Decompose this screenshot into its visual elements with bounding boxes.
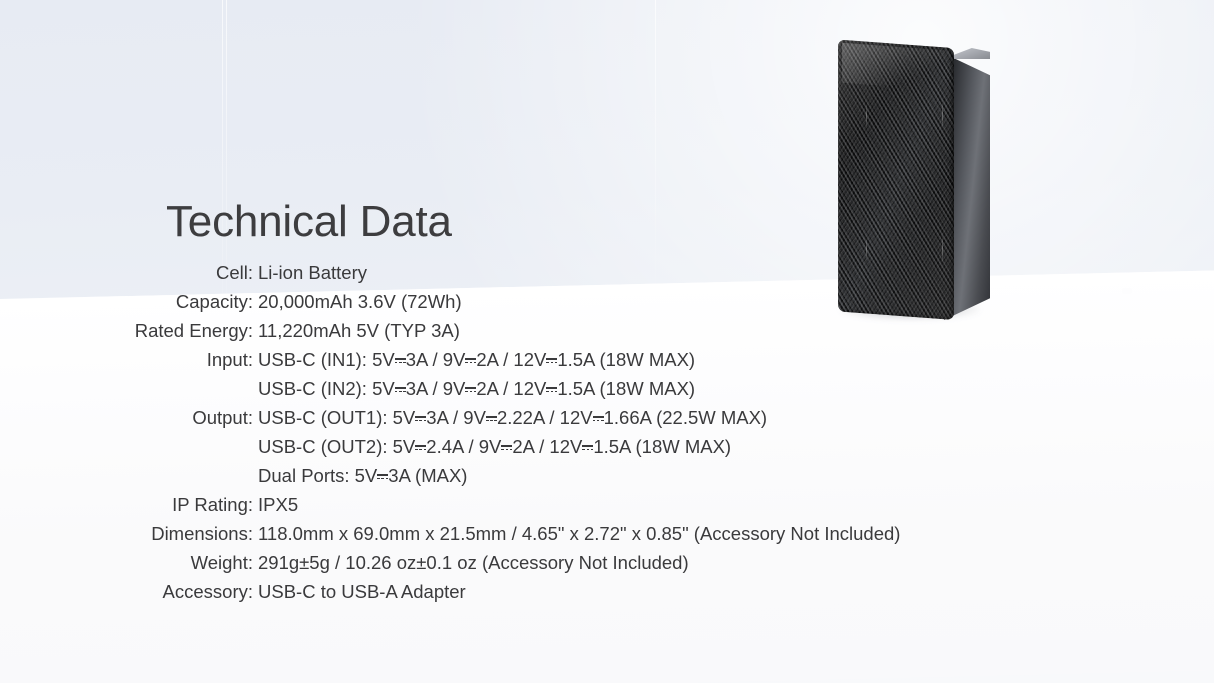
spec-value: USB-C (IN2): 5V3A / 9V2A / 12V1.5A (18W … (258, 374, 1214, 403)
dc-power-icon (546, 356, 557, 365)
spec-label (0, 374, 258, 403)
spec-row: Weight:291g±5g / 10.26 oz±0.1 oz (Access… (0, 548, 1214, 577)
spec-label: Weight: (0, 548, 258, 577)
spec-row: USB-C (OUT2): 5V2.4A / 9V2A / 12V1.5A (1… (0, 432, 1214, 461)
spec-label: Input: (0, 345, 258, 374)
spec-value: Li-ion Battery (258, 258, 1214, 287)
spec-row: Dimensions:118.0mm x 69.0mm x 21.5mm / 4… (0, 519, 1214, 548)
spec-row: Rated Energy:11,220mAh 5V (TYP 3A) (0, 316, 1214, 345)
spec-value: 118.0mm x 69.0mm x 21.5mm / 4.65" x 2.72… (258, 519, 1214, 548)
spec-row: Cell:Li-ion Battery (0, 258, 1214, 287)
spec-row: Input:USB-C (IN1): 5V3A / 9V2A / 12V1.5A… (0, 345, 1214, 374)
dc-power-icon (415, 443, 426, 452)
spec-value: 11,220mAh 5V (TYP 3A) (258, 316, 1214, 345)
spec-label: Output: (0, 403, 258, 432)
spec-label (0, 461, 258, 490)
specifications-block: Technical Data Cell:Li-ion BatteryCapaci… (0, 0, 1214, 683)
spec-value: USB-C (OUT2): 5V2.4A / 9V2A / 12V1.5A (1… (258, 432, 1214, 461)
spec-label: Dimensions: (0, 519, 258, 548)
dc-power-icon (546, 385, 557, 394)
spec-value: USB-C (IN1): 5V3A / 9V2A / 12V1.5A (18W … (258, 345, 1214, 374)
spec-row: Accessory:USB-C to USB-A Adapter (0, 577, 1214, 606)
spec-label: Capacity: (0, 287, 258, 316)
spec-value: 20,000mAh 3.6V (72Wh) (258, 287, 1214, 316)
dc-power-icon (582, 443, 593, 452)
spec-table-body: Cell:Li-ion BatteryCapacity:20,000mAh 3.… (0, 258, 1214, 606)
spec-table: Cell:Li-ion BatteryCapacity:20,000mAh 3.… (0, 258, 1214, 606)
spec-value: USB-C to USB-A Adapter (258, 577, 1214, 606)
dc-power-icon (395, 356, 406, 365)
spec-value: USB-C (OUT1): 5V3A / 9V2.22A / 12V1.66A … (258, 403, 1214, 432)
dc-power-icon (377, 472, 388, 481)
dc-power-icon (501, 443, 512, 452)
product-spec-scene: Technical Data Cell:Li-ion BatteryCapaci… (0, 0, 1214, 683)
spec-row: USB-C (IN2): 5V3A / 9V2A / 12V1.5A (18W … (0, 374, 1214, 403)
spec-row: Capacity:20,000mAh 3.6V (72Wh) (0, 287, 1214, 316)
spec-value: Dual Ports: 5V3A (MAX) (258, 461, 1214, 490)
dc-power-icon (465, 385, 476, 394)
spec-value: 291g±5g / 10.26 oz±0.1 oz (Accessory Not… (258, 548, 1214, 577)
spec-row: Dual Ports: 5V3A (MAX) (0, 461, 1214, 490)
dc-power-icon (415, 414, 426, 423)
spec-row: IP Rating:IPX5 (0, 490, 1214, 519)
spec-label: IP Rating: (0, 490, 258, 519)
dc-power-icon (593, 414, 604, 423)
spec-row: Output:USB-C (OUT1): 5V3A / 9V2.22A / 12… (0, 403, 1214, 432)
spec-label: Accessory: (0, 577, 258, 606)
spec-value: IPX5 (258, 490, 1214, 519)
dc-power-icon (395, 385, 406, 394)
spec-label (0, 432, 258, 461)
dc-power-icon (465, 356, 476, 365)
spec-label: Rated Energy: (0, 316, 258, 345)
page-title: Technical Data (166, 197, 452, 247)
spec-label: Cell: (0, 258, 258, 287)
dc-power-icon (486, 414, 497, 423)
